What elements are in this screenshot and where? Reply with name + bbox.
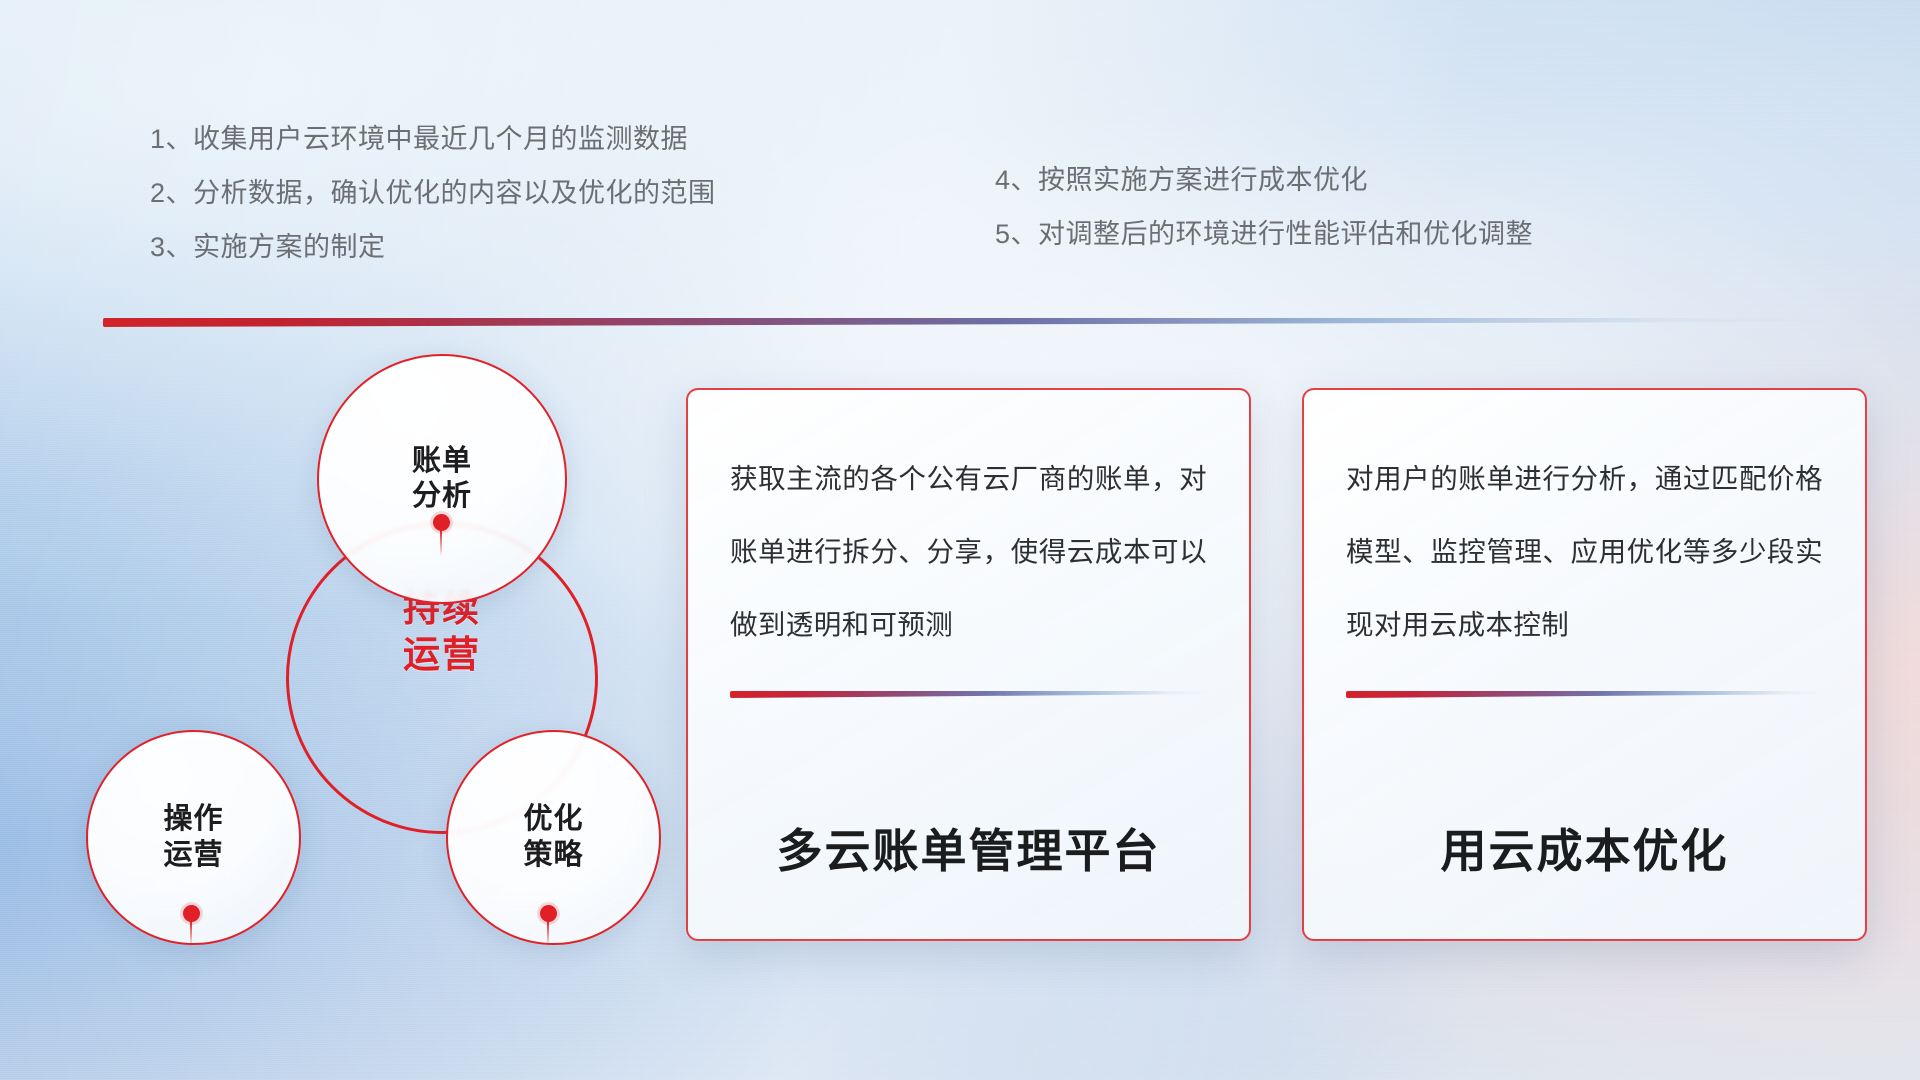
info-card-2-divider	[1346, 691, 1823, 698]
info-card-1-divider	[730, 691, 1207, 698]
steps-left-column: 1、收集用户云环境中最近几个月的监测数据 2、分析数据，确认优化的内容以及优化的…	[150, 112, 716, 274]
step-item-5: 5、对调整后的环境进行性能评估和优化调整	[995, 207, 1533, 261]
venn-diagram: 持续 运营 账单 分析 操作 运营 优化 策略	[96, 358, 656, 938]
info-card-cost-optimization[interactable]: 对用户的账单进行分析，通过匹配价格模型、监控管理、应用优化等多少段实现对用云成本…	[1302, 388, 1867, 941]
venn-node-dot-bottom-left	[183, 905, 200, 922]
venn-bubble-top-label: 账单 分析	[412, 444, 472, 515]
step-item-4: 4、按照实施方案进行成本优化	[995, 153, 1533, 207]
venn-center-label-line2: 运营	[286, 632, 598, 678]
info-card-1-body: 获取主流的各个公有云厂商的账单，对账单进行拆分、分享，使得云成本可以做到透明和可…	[730, 442, 1207, 661]
step-item-2: 2、分析数据，确认优化的内容以及优化的范围	[150, 166, 716, 220]
venn-bubble-bleft-line2: 运营	[163, 838, 223, 873]
venn-node-dot-top	[433, 514, 450, 531]
step-item-3: 3、实施方案的制定	[150, 220, 716, 274]
info-card-1-title: 多云账单管理平台	[730, 815, 1207, 881]
venn-node-tail-bottom-right	[547, 921, 549, 947]
step-item-1: 1、收集用户云环境中最近几个月的监测数据	[150, 112, 716, 166]
venn-node-tail-top	[440, 530, 442, 556]
venn-bubble-top-line1: 账单	[412, 444, 472, 479]
steps-right-column: 4、按照实施方案进行成本优化 5、对调整后的环境进行性能评估和优化调整	[995, 153, 1533, 261]
venn-bubble-top-line2: 分析	[412, 479, 472, 514]
venn-node-dot-bottom-right	[540, 905, 557, 922]
info-card-billing-platform[interactable]: 获取主流的各个公有云厂商的账单，对账单进行拆分、分享，使得云成本可以做到透明和可…	[686, 388, 1251, 941]
venn-bubble-bottom-right-label: 优化 策略	[523, 802, 583, 873]
venn-bubble-bright-line1: 优化	[523, 802, 583, 837]
venn-bubble-top[interactable]: 账单 分析	[317, 354, 567, 604]
venn-bubble-bleft-line1: 操作	[163, 802, 223, 837]
venn-node-tail-bottom-left	[190, 921, 192, 947]
venn-bubble-bright-line2: 策略	[523, 838, 583, 873]
info-card-2-title: 用云成本优化	[1346, 815, 1823, 881]
venn-bubble-bottom-left-label: 操作 运营	[163, 802, 223, 873]
info-card-2-body: 对用户的账单进行分析，通过匹配价格模型、监控管理、应用优化等多少段实现对用云成本…	[1346, 442, 1823, 661]
